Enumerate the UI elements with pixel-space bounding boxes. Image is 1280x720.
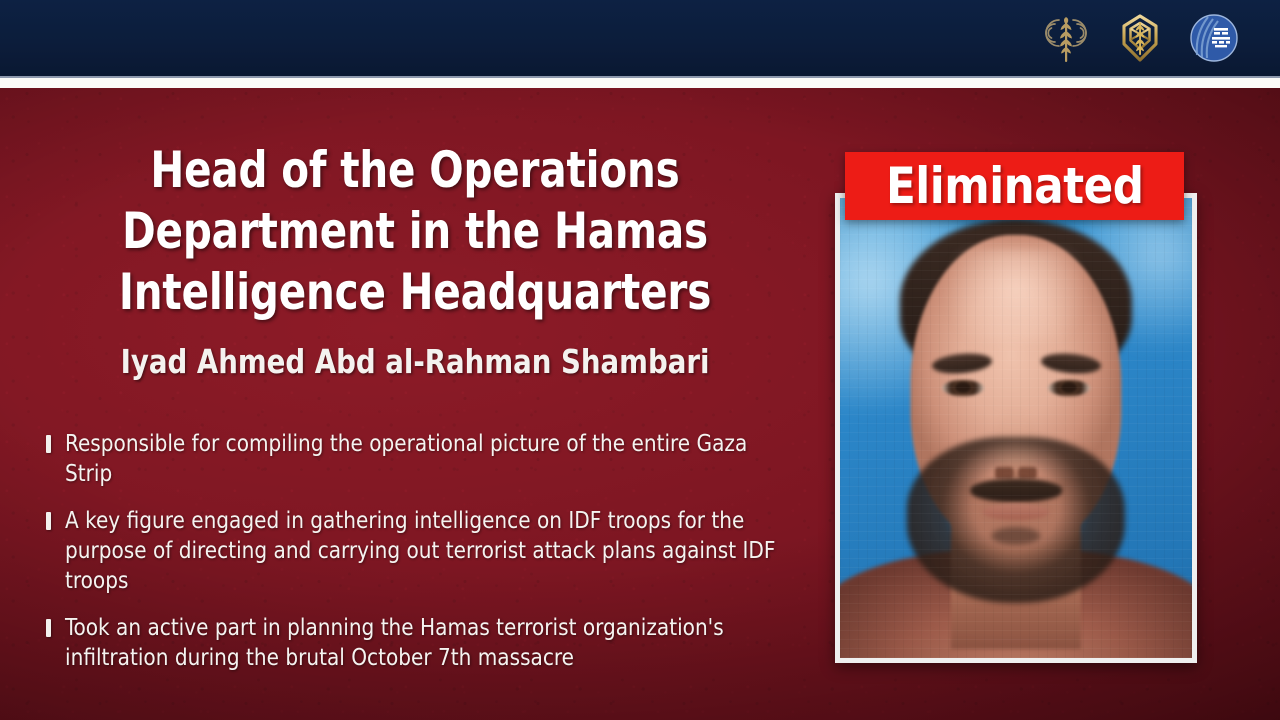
signal-corps-emblem-icon <box>1040 8 1092 68</box>
idf-emblem-icon <box>1114 8 1166 68</box>
portrait-forehead-highlight <box>932 249 1101 341</box>
slide-root: Head of the Operations Department in the… <box>0 0 1280 720</box>
intelligence-directorate-emblem-icon <box>1188 8 1240 68</box>
status-badge: Eliminated <box>845 152 1184 220</box>
portrait-frame <box>835 193 1197 663</box>
list-item-text: Took an active part in planning the Hama… <box>65 612 778 672</box>
portrait-photo <box>840 198 1192 658</box>
portrait-lips <box>983 504 1050 520</box>
list-item: Responsible for compiling the operationa… <box>46 428 816 488</box>
portrait-moustache <box>970 479 1062 502</box>
bullet-marker-icon <box>46 435 51 453</box>
header-white-strip <box>0 78 1280 88</box>
list-item-text: A key figure engaged in gathering intell… <box>65 505 778 595</box>
page-title: Head of the Operations Department in the… <box>42 140 789 323</box>
content-column: Head of the Operations Department in the… <box>0 88 830 720</box>
subject-name: Iyad Ahmed Abd al-Rahman Shambari <box>29 342 801 382</box>
list-item: Took an active part in planning the Hama… <box>46 612 816 672</box>
status-badge-label: Eliminated <box>886 161 1143 211</box>
list-item: A key figure engaged in gathering intell… <box>46 505 816 595</box>
list-item-text: Responsible for compiling the operationa… <box>65 428 778 488</box>
portrait-beard <box>907 437 1125 603</box>
bullet-marker-icon <box>46 619 51 637</box>
bullet-marker-icon <box>46 512 51 530</box>
header-logo-row <box>1040 6 1240 70</box>
bullet-list: Responsible for compiling the operationa… <box>46 428 816 689</box>
